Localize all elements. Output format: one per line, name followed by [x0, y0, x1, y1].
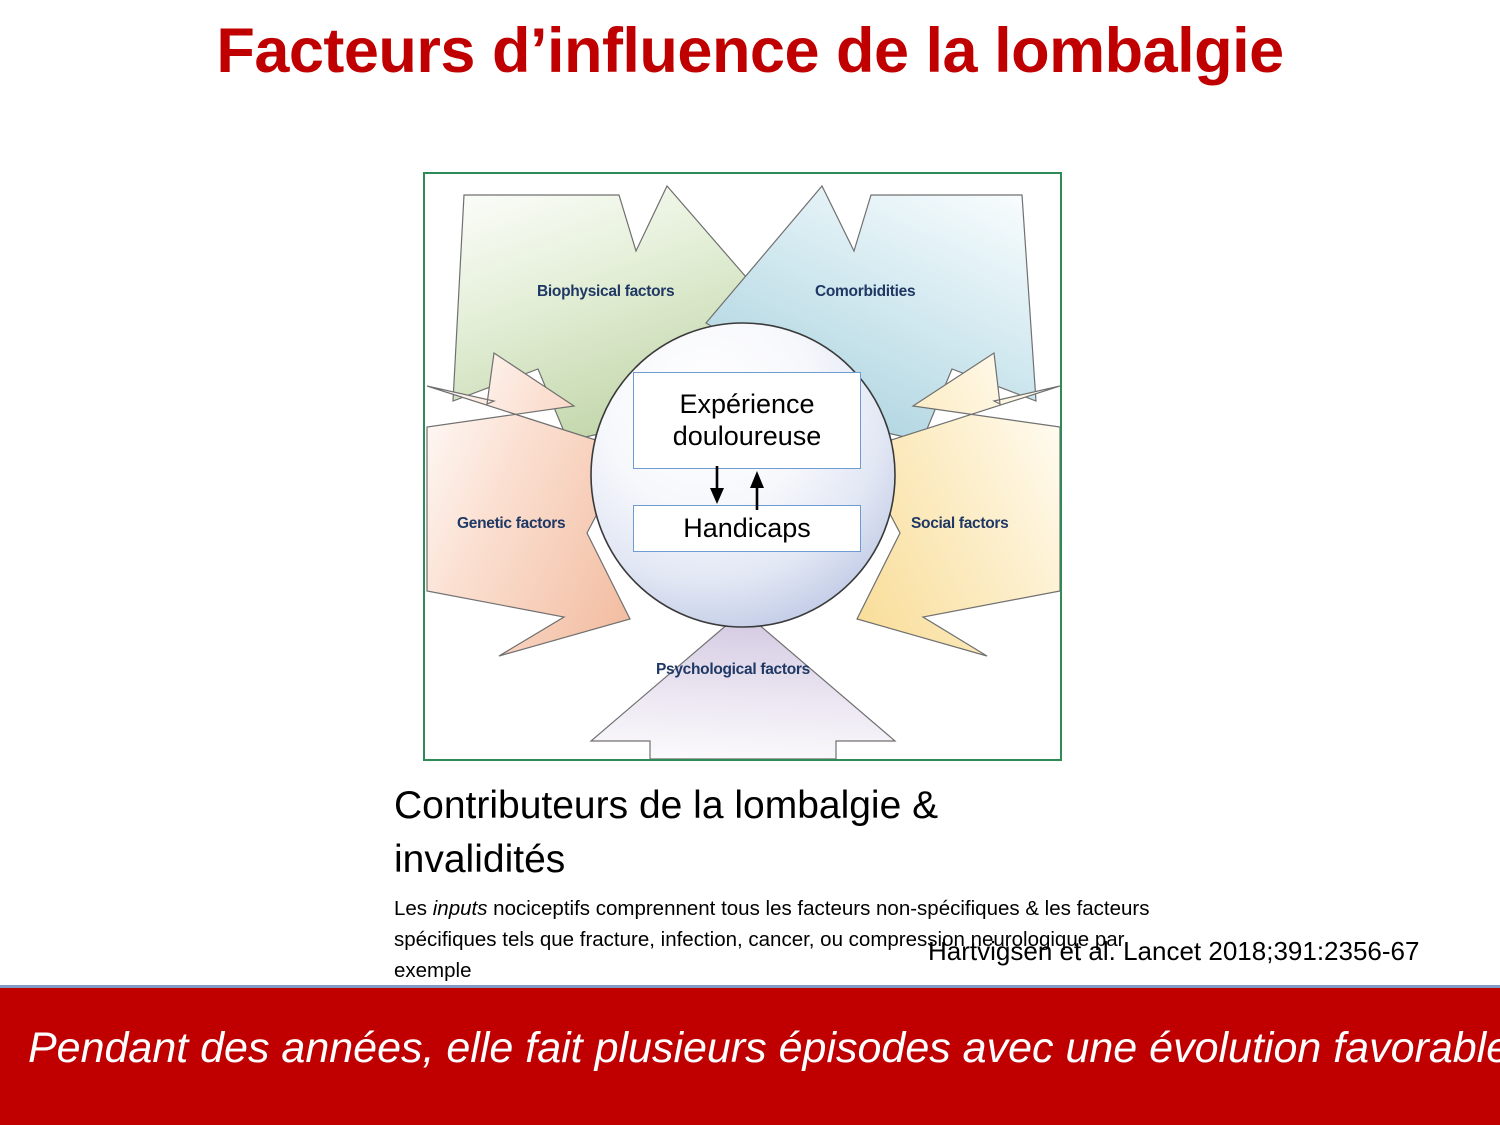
arrow-label-comorbidities: Comorbidities — [815, 283, 915, 300]
center-box-pain-experience: Expérience douloureuse — [633, 372, 861, 469]
arrow-label-social: Social factors — [911, 515, 1008, 532]
arrow-label-psychological: Psychological factors — [656, 661, 810, 678]
arrow-label-genetic: Genetic factors — [457, 515, 565, 532]
bidirectional-arrow-icon — [633, 466, 861, 510]
caption-body-pre: Les — [394, 897, 433, 920]
banner-text: Pendant des années, elle fait plusieurs … — [28, 1024, 1500, 1073]
arrow-psychological-factors: Psychological factors — [591, 611, 895, 759]
caption-heading: Contributeurs de la lombalgie & invalidi… — [394, 779, 1094, 887]
page-title: Facteurs d’influence de la lombalgie — [0, 18, 1500, 84]
center-box-handicaps: Handicaps — [633, 505, 861, 552]
arrow-label-biophysical: Biophysical factors — [537, 283, 674, 300]
citation-reference: Hartvigsen et al. Lancet 2018;391:2356-6… — [928, 936, 1419, 967]
caption-body-italic: inputs — [433, 897, 488, 920]
bottom-banner: Pendant des années, elle fait plusieurs … — [0, 985, 1500, 1125]
